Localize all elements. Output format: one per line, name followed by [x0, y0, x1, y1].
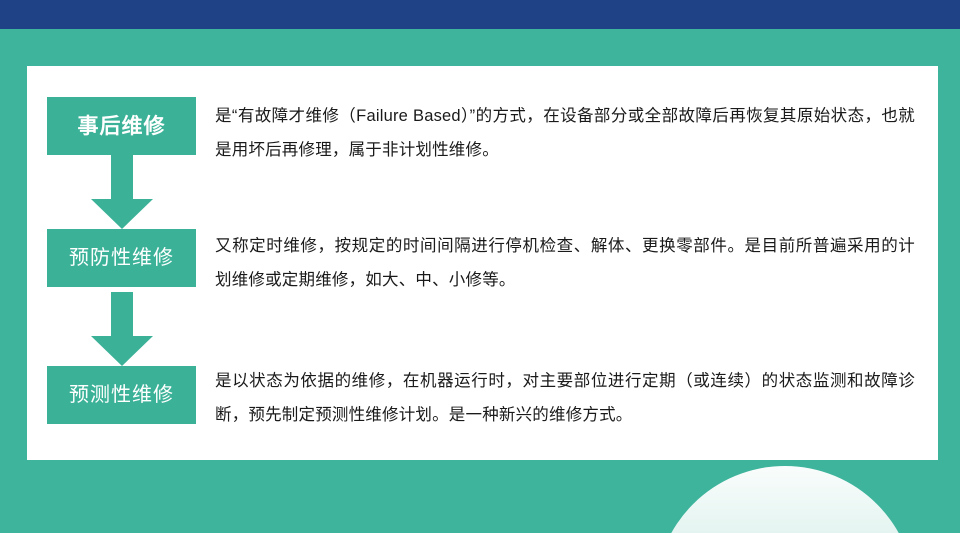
- step-label-text-2: 预防性维修: [69, 248, 174, 268]
- step-label-text-1: 事后维修: [78, 116, 166, 137]
- content-card: 事后维修 是“有故障才维修（Failure Based）”的方式，在设备部分或全…: [27, 66, 938, 460]
- arrow-stem: [111, 292, 133, 340]
- top-navy-band: [0, 0, 960, 29]
- step-label-text-3: 预测性维修: [69, 385, 174, 405]
- arrow-head: [91, 336, 153, 366]
- arrow-down-icon-1: [91, 155, 153, 229]
- step-description-2: 又称定时维修，按规定的时间间隔进行停机检查、解体、更换零部件。是目前所普遍采用的…: [215, 229, 915, 297]
- step-description-1: 是“有故障才维修（Failure Based）”的方式，在设备部分或全部故障后再…: [215, 99, 915, 167]
- arrow-stem: [111, 155, 133, 203]
- decorative-circle: [655, 466, 915, 533]
- arrow-head: [91, 199, 153, 229]
- step-label-box-2[interactable]: 预防性维修: [47, 229, 196, 287]
- arrow-down-icon-2: [91, 292, 153, 366]
- slide-canvas: 事后维修 是“有故障才维修（Failure Based）”的方式，在设备部分或全…: [0, 0, 960, 533]
- step-label-box-3[interactable]: 预测性维修: [47, 366, 196, 424]
- step-description-3: 是以状态为依据的维修，在机器运行时，对主要部位进行定期（或连续）的状态监测和故障…: [215, 364, 915, 432]
- step-label-box-1[interactable]: 事后维修: [47, 97, 196, 155]
